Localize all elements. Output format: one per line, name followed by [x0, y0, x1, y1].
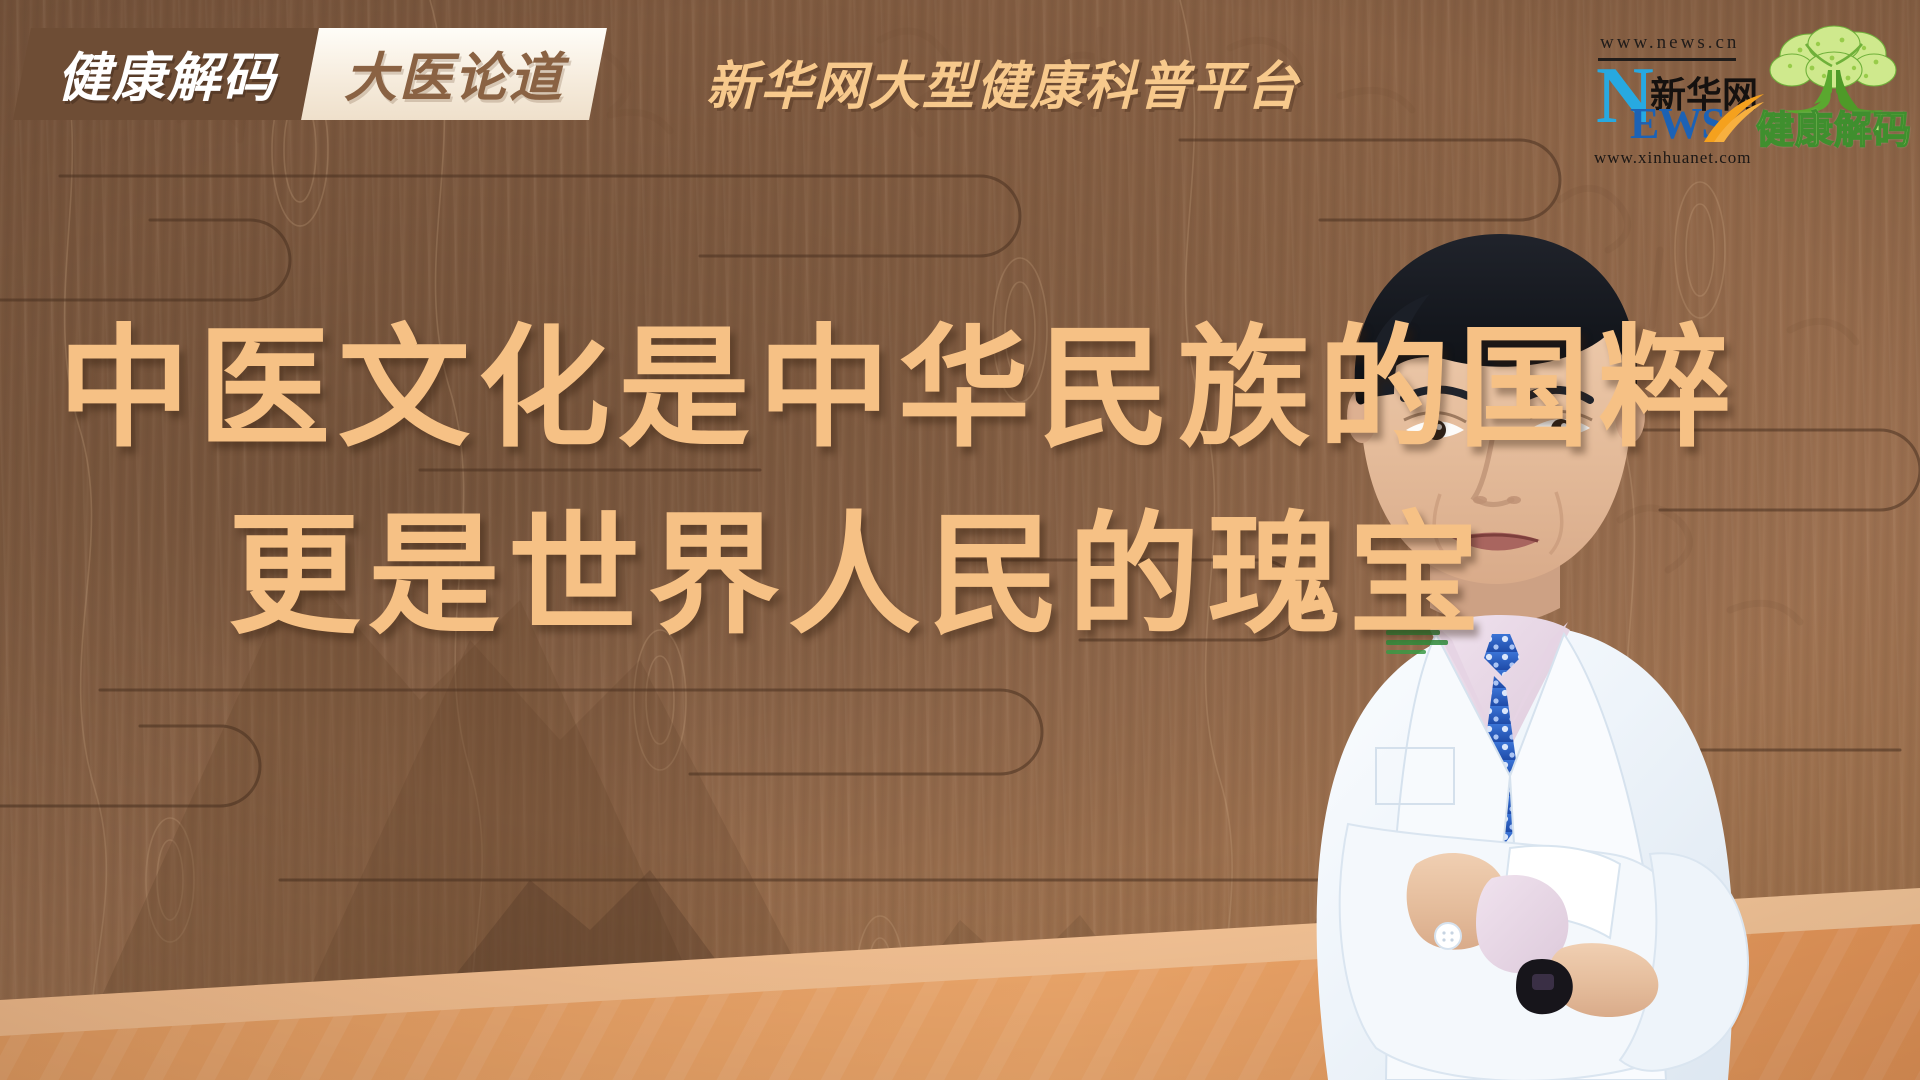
headline-line-1: 中医文化是中华民族的国粹	[0, 296, 1430, 483]
xinhua-url-bottom: www.xinhuanet.com	[1594, 148, 1752, 168]
tree-logo-label: 健康解码	[1756, 99, 1912, 154]
program-tag[interactable]: 健康解码	[13, 28, 321, 120]
headline-line-2: 更是世界人民的瑰宝	[0, 483, 1430, 670]
tree-logo[interactable]: 健康解码	[1756, 22, 1912, 152]
xinhua-logo[interactable]: www.news.cn N 新华网 EWS www.xinhuanet.com	[1592, 32, 1744, 144]
xinhua-url-top: www.news.cn	[1600, 32, 1739, 54]
segment-tag[interactable]: 大医论道	[301, 28, 607, 120]
segment-tag-label: 大医论道	[344, 36, 564, 112]
poster-canvas: 健康解码 大医论道 新华网大型健康科普平台 www.news.cn N 新华网 …	[0, 0, 1920, 1080]
header-subtitle: 新华网大型健康科普平台	[706, 44, 1300, 119]
program-tag-label: 健康解码	[57, 36, 277, 112]
headline: 中医文化是中华民族的国粹 更是世界人民的瑰宝	[0, 296, 1430, 671]
